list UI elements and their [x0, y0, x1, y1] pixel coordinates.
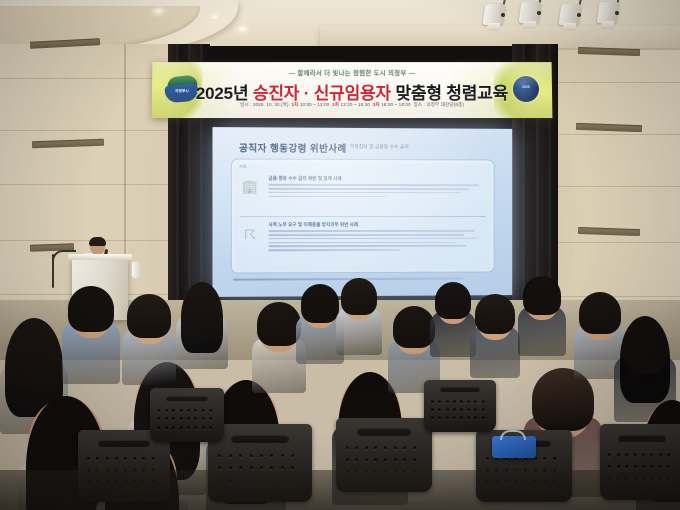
- banner-place: 의정부 대강당(6층): [426, 102, 464, 107]
- audience-member-hair: [68, 286, 114, 332]
- audience-member-hair: [301, 284, 339, 323]
- foreground-floor: [0, 470, 680, 510]
- anniversary-emblem-label: 2025: [513, 85, 539, 89]
- projection-screen: 공직자 행동강령 위반사례 부정청탁 및 금품등 수수 금지 사례 🏢 금품·향…: [212, 127, 512, 297]
- banner-session3: 16:00 ~ 18:00: [381, 102, 411, 107]
- chair-perforations: [431, 400, 489, 425]
- spotlight-icon: [596, 2, 622, 32]
- audience-member: [176, 282, 228, 382]
- network-icon: ☈: [238, 228, 262, 241]
- downlight-icon: [236, 26, 249, 33]
- wall-vent: [32, 139, 104, 149]
- slide-title: 공직자 행동강령 위반사례: [239, 140, 347, 155]
- banner-session3-label: 3차: [373, 102, 380, 107]
- chair-handle-slot: [231, 435, 289, 443]
- audience-member-hair: [435, 282, 471, 319]
- banner-session1: 10:00 ~ 12:00: [300, 102, 330, 107]
- audience-member-hair: [341, 278, 377, 315]
- audience-member-hair: [127, 294, 171, 338]
- spotlight-icon: [558, 4, 584, 34]
- wall-vent: [576, 123, 642, 132]
- banner-session1-label: 1차: [291, 102, 298, 107]
- audience-member-hair: [393, 306, 435, 348]
- building-icon: 🏢: [238, 180, 262, 193]
- downlight-icon: [152, 8, 165, 15]
- downlight-icon: [208, 14, 221, 21]
- slide-subtitle: 부정청탁 및 금품등 수수 금지: [350, 144, 409, 150]
- chair-handle-slot: [357, 428, 411, 435]
- banner-title-highlight: 승진자 · 신규임용자: [253, 84, 391, 103]
- chair-handle-slot: [98, 440, 150, 447]
- audience-member: [122, 294, 176, 398]
- chair-handle-slot: [618, 435, 665, 443]
- spotlight-icon: [518, 2, 544, 32]
- audience-chair: [424, 380, 496, 432]
- slide-block-heading: 금품·향응 수수 금지 위반 및 징계 사례: [268, 176, 485, 183]
- wall-vent: [578, 227, 640, 236]
- slide-divider: [240, 216, 486, 217]
- audience-chair: [150, 388, 224, 442]
- blue-bag-handle: [500, 430, 526, 440]
- banner-date: 2025. 10. 30.(목): [253, 102, 289, 107]
- lectern-top: [68, 254, 132, 260]
- audience-member-hair: [620, 316, 670, 403]
- audience-member: [518, 276, 566, 368]
- lecture-hall-photo: 공직자 행동강령 위반사례 부정청탁 및 금품등 수수 금지 사례 🏢 금품·향…: [0, 0, 680, 510]
- audience-member-hair: [523, 276, 561, 315]
- chair-perforations: [157, 409, 216, 435]
- banner-info-line: 일시 : 2025. 10. 30.(목) 1차 10:00 ~ 12:00 2…: [152, 102, 553, 108]
- banner-title-prefix: 2025년: [196, 84, 253, 103]
- banner-session2: 13:30 ~ 15:30: [340, 102, 370, 107]
- banner-title-suffix: 맞춤형 청렴교육: [391, 84, 508, 103]
- anniversary-emblem-icon: 2025: [513, 76, 539, 102]
- slide-block-heading: 사적 노무 요구 및 이해충돌 방지의무 위반 사례: [268, 222, 485, 228]
- chair-handle-slot: [166, 396, 207, 401]
- banner-session2-label: 2차: [332, 102, 339, 107]
- audience-member: [470, 294, 520, 390]
- audience-member-hair: [181, 282, 223, 353]
- slide-block: 사적 노무 요구 및 이해충돌 방지의무 위반 사례: [268, 222, 485, 251]
- banner-tagline: — 함께라서 더 빛나는 청렴한 도시 의정부 —: [152, 68, 552, 77]
- audience-member: [62, 286, 120, 398]
- banner-date-label: 일시 :: [240, 102, 251, 107]
- banner-title: 2025년 승진자 · 신규임용자 맞춤형 청렴교육: [152, 79, 552, 104]
- slide-block: 금품·향응 수수 금지 위반 및 징계 사례: [268, 176, 485, 198]
- wall-vent: [578, 47, 640, 56]
- audience-member: [336, 278, 382, 366]
- chair-handle-slot: [440, 387, 480, 392]
- slide-card-tag: 사례: [239, 165, 246, 170]
- spotlight-icon: [482, 4, 508, 34]
- audience-member-hair: [475, 294, 515, 334]
- banner-place-label: 장소 :: [414, 102, 425, 107]
- slide-content-card: 사례 🏢 금품·향응 수수 금지 위반 및 징계 사례 ☈ 사적 노무 요구 및…: [231, 158, 495, 273]
- event-banner: 의정부시 — 함께라서 더 빛나는 청렴한 도시 의정부 — 2025년 승진자…: [152, 62, 553, 118]
- audience-member-hair: [257, 302, 301, 346]
